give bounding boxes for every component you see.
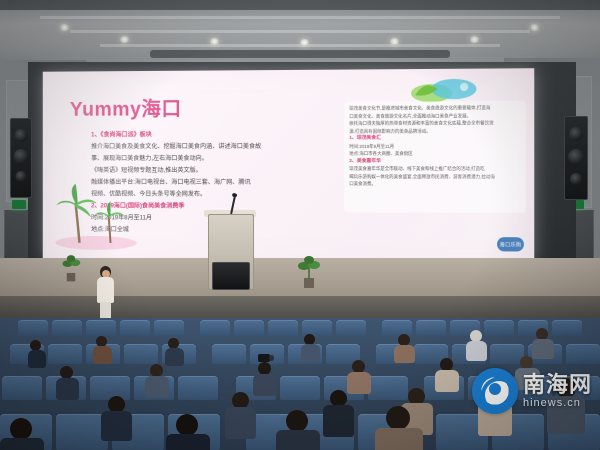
audience-member — [150, 364, 174, 396]
ceiling-spotlight — [390, 38, 399, 45]
brand-badge-label: 海口乐购 — [497, 237, 524, 251]
haikou-brand-logo: 海口乐购 — [497, 237, 524, 251]
audience-member-foreground — [386, 406, 430, 450]
auditorium-photo: Yummy海口 1、《食尚海口派》板块 推介海口美食及美食文化、挖掘海口美食内涵… — [0, 0, 600, 450]
audience-member-foreground — [176, 414, 216, 450]
audience-member — [258, 362, 282, 394]
video-camera — [258, 354, 270, 362]
audience-member — [470, 330, 490, 358]
ceiling-spotlight — [60, 24, 69, 31]
watermark: 南海网 hinews.cn — [472, 368, 592, 414]
audience-member — [168, 338, 188, 364]
screen-right-text: 琼茂美食文化节,是推进城市美食文化、美食旅游文化的重要载体,打造海 口美食文化、… — [344, 101, 526, 213]
ceiling-spotlight — [210, 38, 219, 45]
audience-member — [232, 392, 262, 436]
ceiling-spotlight — [530, 24, 539, 31]
loudspeaker-right — [564, 116, 588, 200]
palm-tree-illustration-icon — [54, 182, 137, 251]
audience-member — [352, 360, 376, 392]
potted-plant-icon — [296, 254, 322, 288]
loudspeaker-left — [10, 118, 32, 198]
audience-member — [330, 390, 360, 434]
audience-member-foreground — [10, 418, 50, 450]
stage-monitor — [212, 262, 250, 290]
audience-member — [96, 336, 116, 362]
audience-member — [60, 366, 84, 398]
ceiling-spotlight — [470, 36, 479, 43]
audience-member-foreground — [286, 410, 326, 450]
watermark-en-text: hinews.cn — [523, 398, 592, 409]
audience-member — [108, 396, 138, 438]
screen-title: Yummy海口 — [70, 93, 182, 122]
audience-member — [440, 358, 464, 390]
audience-member — [304, 334, 324, 360]
audience-member — [398, 334, 418, 360]
watermark-cn-text: 南海网 — [523, 374, 592, 396]
potted-plant-icon — [60, 252, 82, 282]
ceiling-spotlight — [300, 39, 309, 46]
led-presentation-screen: Yummy海口 1、《食尚海口派》板块 推介海口美食及美食文化、挖掘海口美食内涵… — [43, 68, 534, 262]
ceiling-spotlight — [120, 36, 129, 43]
nanhai-net-logo-icon — [472, 368, 518, 414]
audience-member — [30, 340, 50, 366]
audience-member — [536, 328, 556, 356]
exit-sign-icon — [12, 200, 26, 209]
